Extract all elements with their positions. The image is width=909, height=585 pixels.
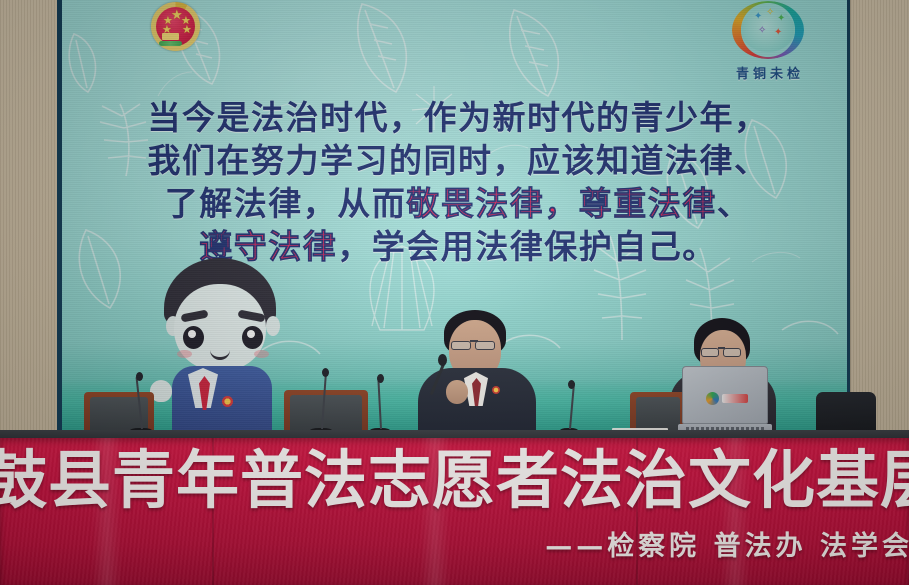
slide-text-run-3-1: 了解法律，从而	[165, 184, 407, 223]
laptop-sticker-label-icon	[722, 394, 748, 403]
lapel-badge-icon	[492, 386, 500, 394]
desk-microphone-4	[560, 380, 578, 434]
slide-body-text: 当今是法治时代，作为新时代的青少年，我们在努力学习的同时，应该知道法律、了解法律…	[108, 96, 808, 268]
slide-text-run-3-3: 、	[717, 184, 752, 223]
desk-microphone-1	[130, 372, 152, 434]
banner-subtitle-text: ——检察院 普法办 法学会	[545, 524, 909, 563]
slide-text-run-2-1: 我们在努力学习的同时，应该知道法律、	[148, 141, 769, 180]
slide-text-run-1-1: 当今是法治时代，作为新时代的青少年，	[148, 98, 769, 137]
red-banner-table-skirt: 鼓县青年普法志愿者法治文化基层行 ——检察院 普法办 法学会	[0, 438, 909, 585]
cartoon-boy-mascot	[150, 258, 296, 437]
slide-text-run-3-2: 敬畏法律，尊重法律	[406, 184, 717, 223]
desk-microphone-2	[310, 368, 332, 434]
desk-microphone-3	[370, 374, 390, 434]
qingtong-weijian-logo: ✦ ✧ ✦ ✧ ✦ 青铜未检	[717, 0, 823, 92]
lecture-scene-photo: ★ ★ ★ ★ ★ ✦ ✧ ✦ ✧ ✦ 青铜未检 当今是法治时代，作为新时代的青…	[0, 0, 909, 585]
laptop-sticker-round-icon	[706, 392, 719, 405]
slide-text-line-2: 我们在努力学习的同时，应该知道法律、	[108, 139, 808, 182]
handheld-microphone-icon	[438, 354, 447, 366]
slide-text-line-1: 当今是法治时代，作为新时代的青少年，	[108, 96, 808, 139]
person-speaker-center	[418, 310, 536, 438]
banner-title-text: 鼓县青年普法志愿者法治文化基层行	[0, 446, 909, 516]
silver-laptop	[678, 366, 772, 436]
china-national-emblem-icon: ★ ★ ★ ★ ★	[151, 2, 200, 51]
mascot-lapel-badge-icon	[222, 396, 233, 407]
slide-text-line-3: 了解法律，从而敬畏法律，尊重法律、	[108, 182, 808, 225]
logo-mark-icon: ✦ ✧ ✦ ✧ ✦	[728, 0, 812, 62]
logo-text: 青铜未检	[717, 63, 823, 82]
slide-text-run-4-2: ，学会用法律保护自己。	[337, 227, 717, 266]
